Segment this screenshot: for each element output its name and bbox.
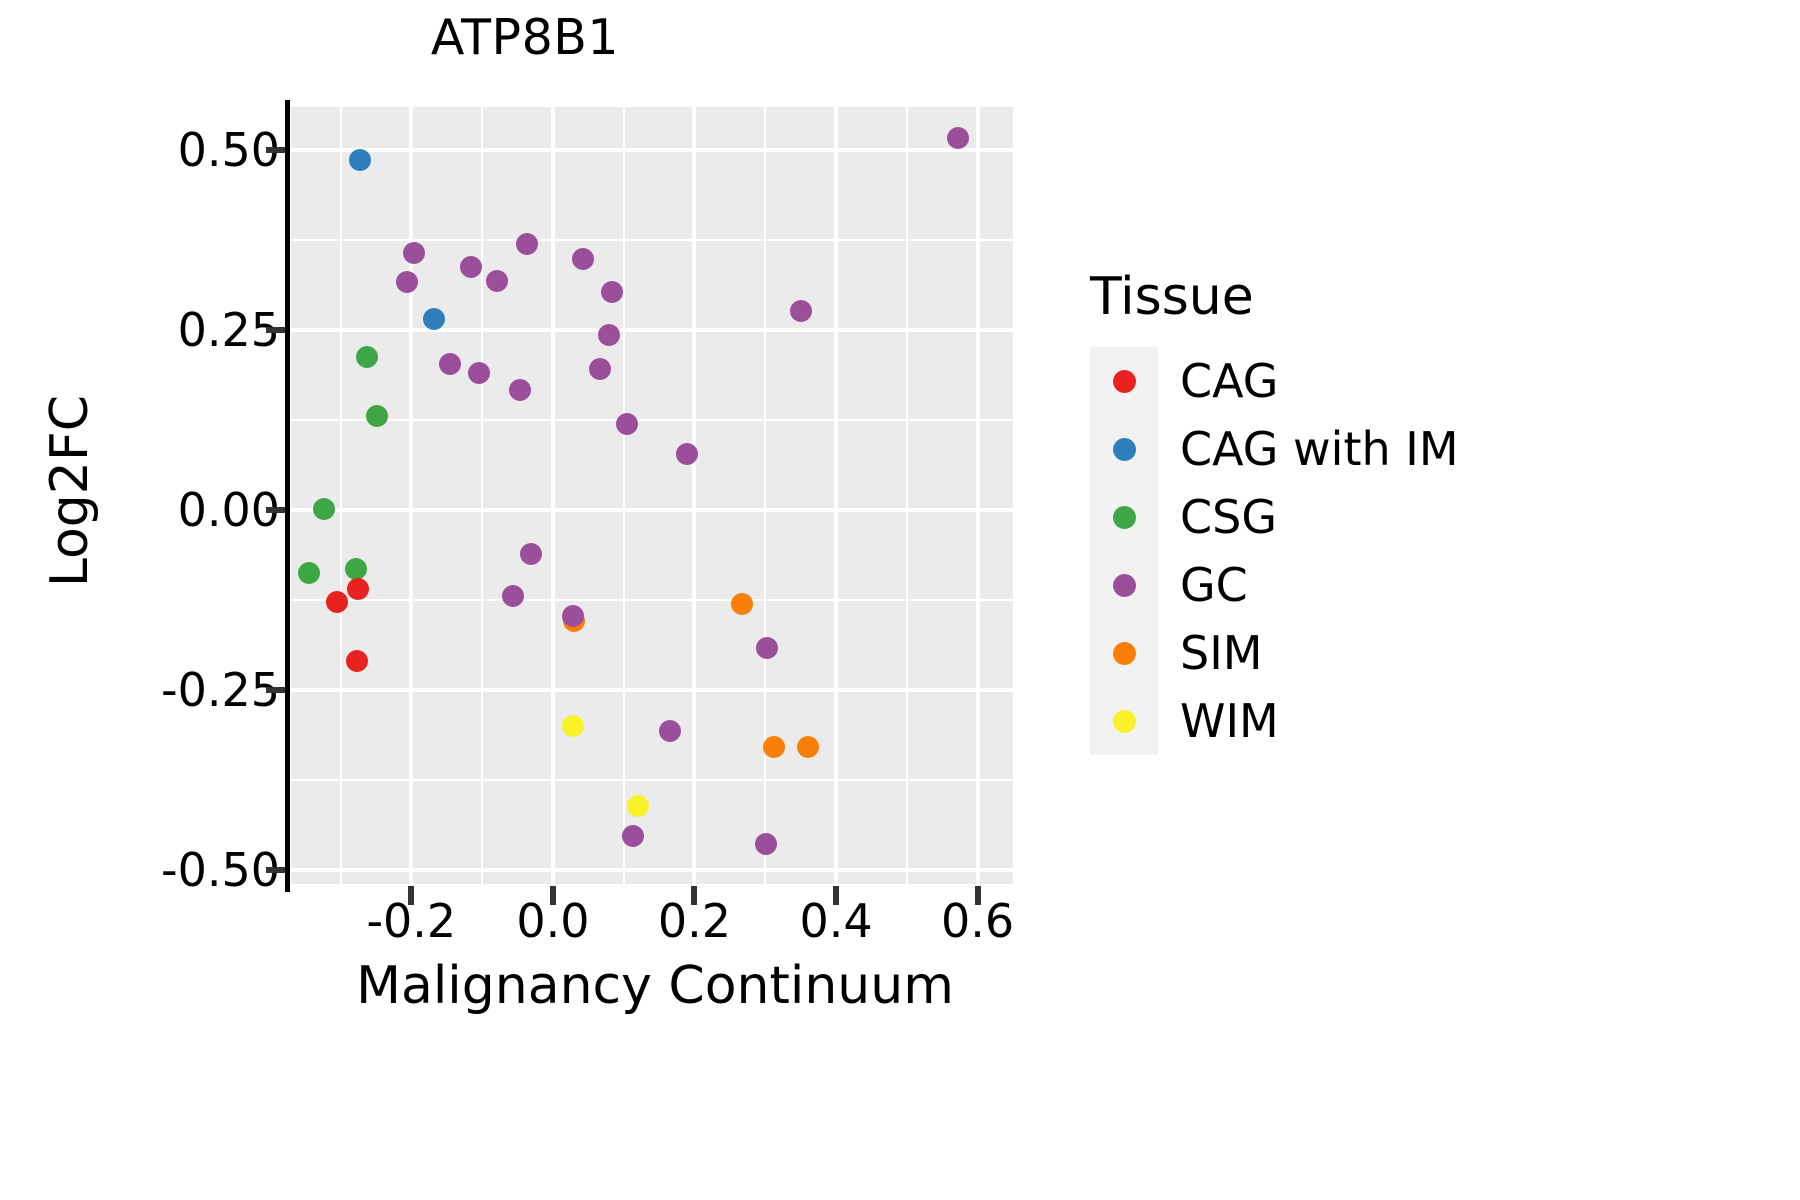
- legend-items: CAGCAG with IMCSGGCSIMWIM: [1090, 347, 1690, 755]
- legend-item-csg[interactable]: CSG: [1090, 483, 1690, 551]
- legend-dot-icon: [1113, 506, 1136, 529]
- gridline-minor-x: [764, 107, 766, 884]
- data-point-csg: [356, 346, 378, 368]
- gridline-minor-x: [340, 107, 342, 884]
- legend-item-cag-with-im[interactable]: CAG with IM: [1090, 415, 1690, 483]
- legend-key-swatch: [1090, 551, 1158, 619]
- data-point-gc: [486, 270, 508, 292]
- gridline-major-y-0: [291, 148, 1013, 152]
- gridline-major-x-3: [834, 107, 838, 884]
- gridline-minor-x: [481, 107, 483, 884]
- data-point-gc: [947, 127, 969, 149]
- gridline-minor-y: [291, 239, 1013, 241]
- x-axis-title: Malignancy Continuum: [240, 955, 1070, 1017]
- y-tick-mark-2: [266, 507, 285, 513]
- legend-label: SIM: [1180, 628, 1262, 678]
- data-point-cag: [347, 578, 369, 600]
- data-point-gc: [589, 358, 611, 380]
- legend-dot-icon: [1113, 710, 1136, 733]
- y-tick-mark-4: [266, 867, 285, 873]
- data-point-cag: [346, 650, 368, 672]
- gridline-major-x-0: [409, 107, 413, 884]
- data-point-gc: [562, 605, 584, 627]
- legend-key-swatch: [1090, 483, 1158, 551]
- gridline-minor-y: [291, 779, 1013, 781]
- gridline-major-x-4: [976, 107, 980, 884]
- data-point-cag-with-im: [349, 149, 371, 171]
- legend-key-swatch: [1090, 347, 1158, 415]
- data-point-gc: [502, 585, 524, 607]
- data-point-gc: [516, 233, 538, 255]
- y-axis-title: Log2FC: [39, 281, 101, 701]
- legend-label: WIM: [1180, 696, 1279, 746]
- y-tick-mark-0: [266, 147, 285, 153]
- gridline-major-x-1: [551, 107, 555, 884]
- data-point-cag-with-im: [423, 308, 445, 330]
- legend-item-gc[interactable]: GC: [1090, 551, 1690, 619]
- data-point-cag: [326, 591, 348, 613]
- legend-dot-icon: [1113, 642, 1136, 665]
- data-point-sim: [797, 736, 819, 758]
- data-point-csg: [366, 405, 388, 427]
- gridline-minor-y: [291, 419, 1013, 421]
- legend-label: CSG: [1180, 492, 1277, 542]
- gridline-minor-x: [906, 107, 908, 884]
- legend-title: Tissue: [1090, 265, 1690, 329]
- legend-dot-icon: [1113, 370, 1136, 393]
- legend-label: GC: [1180, 560, 1248, 610]
- data-point-sim: [763, 736, 785, 758]
- data-point-gc: [622, 825, 644, 847]
- data-point-csg: [298, 562, 320, 584]
- data-point-gc: [460, 256, 482, 278]
- gridline-major-y-4: [291, 868, 1013, 872]
- legend-item-wim[interactable]: WIM: [1090, 687, 1690, 755]
- gridline-major-y-1: [291, 328, 1013, 332]
- legend-key-swatch: [1090, 415, 1158, 483]
- data-point-gc: [601, 281, 623, 303]
- legend-item-sim[interactable]: SIM: [1090, 619, 1690, 687]
- data-point-gc: [659, 720, 681, 742]
- data-point-gc: [572, 248, 594, 270]
- data-point-sim: [731, 593, 753, 615]
- y-tick-label-3: -0.25: [161, 667, 280, 713]
- data-point-gc: [616, 413, 638, 435]
- y-tick-mark-1: [266, 327, 285, 333]
- data-point-gc: [520, 543, 542, 565]
- data-point-gc: [509, 379, 531, 401]
- y-tick-mark-3: [266, 687, 285, 693]
- legend-item-cag[interactable]: CAG: [1090, 347, 1690, 415]
- x-tick-mark-4: [975, 886, 981, 905]
- x-tick-mark-1: [550, 886, 556, 905]
- y-tick-label-0: 0.50: [178, 127, 280, 173]
- y-axis-line: [285, 100, 290, 892]
- data-point-gc: [439, 353, 461, 375]
- x-tick-mark-2: [691, 886, 697, 905]
- data-point-csg: [313, 498, 335, 520]
- data-point-wim: [562, 715, 584, 737]
- gridline-major-y-2: [291, 508, 1013, 512]
- data-point-gc: [755, 833, 777, 855]
- chart-root: ATP8B1 0.500.250.00-0.25-0.50 -0.20.00.2…: [0, 0, 1800, 1200]
- data-point-gc: [756, 637, 778, 659]
- data-point-wim: [627, 795, 649, 817]
- legend-label: CAG with IM: [1180, 424, 1459, 474]
- legend-label: CAG: [1180, 356, 1278, 406]
- x-tick-mark-0: [408, 886, 414, 905]
- gridline-minor-x: [623, 107, 625, 884]
- gridline-minor-y: [291, 599, 1013, 601]
- legend-key-swatch: [1090, 619, 1158, 687]
- y-tick-label-2: 0.00: [178, 487, 280, 533]
- y-tick-label-1: 0.25: [178, 307, 280, 353]
- legend-dot-icon: [1113, 574, 1136, 597]
- plot-panel: [291, 107, 1013, 884]
- data-point-gc: [403, 242, 425, 264]
- legend-key-swatch: [1090, 687, 1158, 755]
- data-point-gc: [598, 324, 620, 346]
- data-point-csg: [345, 558, 367, 580]
- data-point-gc: [790, 300, 812, 322]
- data-point-gc: [676, 443, 698, 465]
- legend-dot-icon: [1113, 438, 1136, 461]
- data-point-gc: [396, 271, 418, 293]
- data-point-gc: [468, 362, 490, 384]
- gridline-major-y-3: [291, 688, 1013, 692]
- y-tick-label-4: -0.50: [161, 847, 280, 893]
- gridline-major-x-2: [692, 107, 696, 884]
- legend: Tissue CAGCAG with IMCSGGCSIMWIM: [1090, 265, 1690, 755]
- page-title: ATP8B1: [0, 8, 1050, 68]
- x-tick-mark-3: [833, 886, 839, 905]
